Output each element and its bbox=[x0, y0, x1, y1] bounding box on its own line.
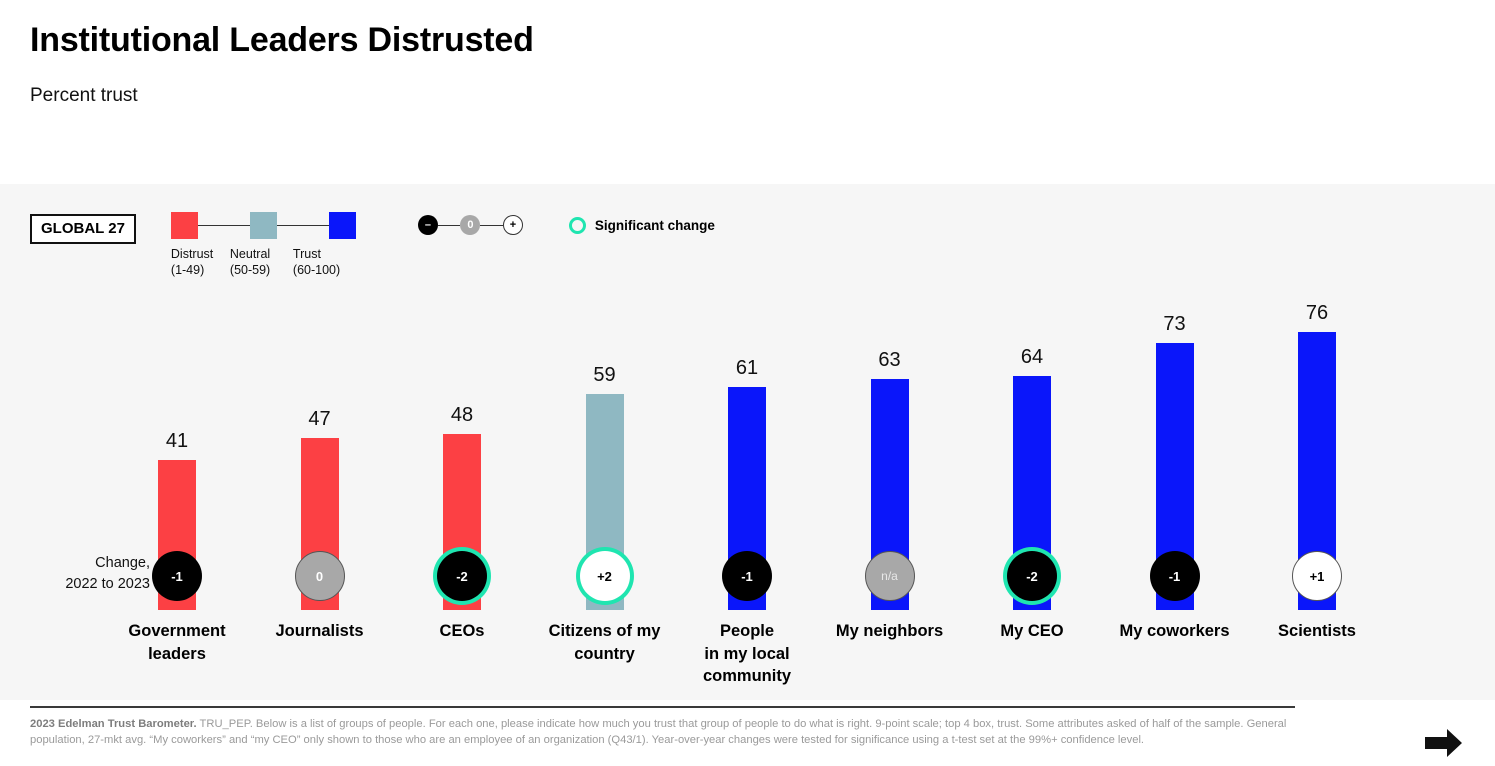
bar-value-label: 61 bbox=[672, 357, 822, 380]
category-label: My CEO bbox=[957, 620, 1107, 643]
bar-group: 73-1My coworkers bbox=[1100, 343, 1250, 610]
bar-group: 76+1Scientists bbox=[1242, 332, 1392, 610]
category-label: Peoplein my localcommunity bbox=[672, 620, 822, 688]
change-marker[interactable]: -2 bbox=[1007, 551, 1057, 601]
category-label: Journalists bbox=[245, 620, 395, 643]
category-label-line: Citizens of my bbox=[530, 620, 680, 643]
category-label-line: My neighbors bbox=[815, 620, 965, 643]
bar-group: 64-2My CEO bbox=[957, 376, 1107, 610]
category-label-line: community bbox=[672, 665, 822, 688]
bar-value-label: 64 bbox=[957, 346, 1107, 369]
category-label: Scientists bbox=[1242, 620, 1392, 643]
category-label-line: in my local bbox=[672, 643, 822, 666]
plot-area: Change, 2022 to 2023 41-1Governmentleade… bbox=[0, 184, 1495, 700]
change-marker[interactable]: n/a bbox=[865, 551, 915, 601]
category-label: My neighbors bbox=[815, 620, 965, 643]
bar-group: 48-2CEOs bbox=[387, 434, 537, 610]
change-marker[interactable]: +2 bbox=[580, 551, 630, 601]
bar-value-label: 73 bbox=[1100, 313, 1250, 336]
slide-page: Institutional Leaders Distrusted Percent… bbox=[0, 0, 1495, 766]
category-label-line: Journalists bbox=[245, 620, 395, 643]
footnote-text: TRU_PEP. Below is a list of groups of pe… bbox=[30, 718, 1286, 746]
footer: 2023 Edelman Trust Barometer. TRU_PEP. B… bbox=[30, 706, 1465, 748]
bar-value-label: 41 bbox=[102, 430, 252, 453]
page-subtitle: Percent trust bbox=[30, 85, 1430, 107]
bar-group: 63n/aMy neighbors bbox=[815, 379, 965, 610]
change-marker[interactable]: -2 bbox=[437, 551, 487, 601]
category-label-line: Government bbox=[102, 620, 252, 643]
category-label-line: leaders bbox=[102, 643, 252, 666]
bar-value-label: 63 bbox=[815, 349, 965, 372]
bar-value-label: 48 bbox=[387, 404, 537, 427]
bar-value-label: 47 bbox=[245, 408, 395, 431]
category-label: CEOs bbox=[387, 620, 537, 643]
bar-value-label: 59 bbox=[530, 364, 680, 387]
bar-group: 41-1Governmentleaders bbox=[102, 460, 252, 610]
change-marker[interactable]: +1 bbox=[1292, 551, 1342, 601]
category-label-line: My coworkers bbox=[1100, 620, 1250, 643]
category-label: Citizens of mycountry bbox=[530, 620, 680, 665]
bar-group: 470Journalists bbox=[245, 438, 395, 610]
category-label-line: Scientists bbox=[1242, 620, 1392, 643]
chart-panel: GLOBAL 27 Distrust (1-49) bbox=[0, 184, 1495, 700]
arrow-right-icon[interactable] bbox=[1421, 726, 1465, 760]
change-marker[interactable]: -1 bbox=[152, 551, 202, 601]
bar-group: 61-1Peoplein my localcommunity bbox=[672, 387, 822, 610]
page-title: Institutional Leaders Distrusted bbox=[30, 22, 1430, 59]
header: Institutional Leaders Distrusted Percent… bbox=[30, 22, 1430, 107]
change-marker[interactable]: -1 bbox=[722, 551, 772, 601]
category-label: Governmentleaders bbox=[102, 620, 252, 665]
category-label-line: country bbox=[530, 643, 680, 666]
change-marker[interactable]: -1 bbox=[1150, 551, 1200, 601]
category-label-line: My CEO bbox=[957, 620, 1107, 643]
category-label: My coworkers bbox=[1100, 620, 1250, 643]
bar-value-label: 76 bbox=[1242, 302, 1392, 325]
footer-divider bbox=[30, 706, 1295, 708]
bar-group: 59+2Citizens of mycountry bbox=[530, 394, 680, 610]
change-marker[interactable]: 0 bbox=[295, 551, 345, 601]
footnote: 2023 Edelman Trust Barometer. TRU_PEP. B… bbox=[30, 716, 1305, 748]
category-label-line: CEOs bbox=[387, 620, 537, 643]
category-label-line: People bbox=[672, 620, 822, 643]
footnote-source: 2023 Edelman Trust Barometer. bbox=[30, 718, 197, 730]
